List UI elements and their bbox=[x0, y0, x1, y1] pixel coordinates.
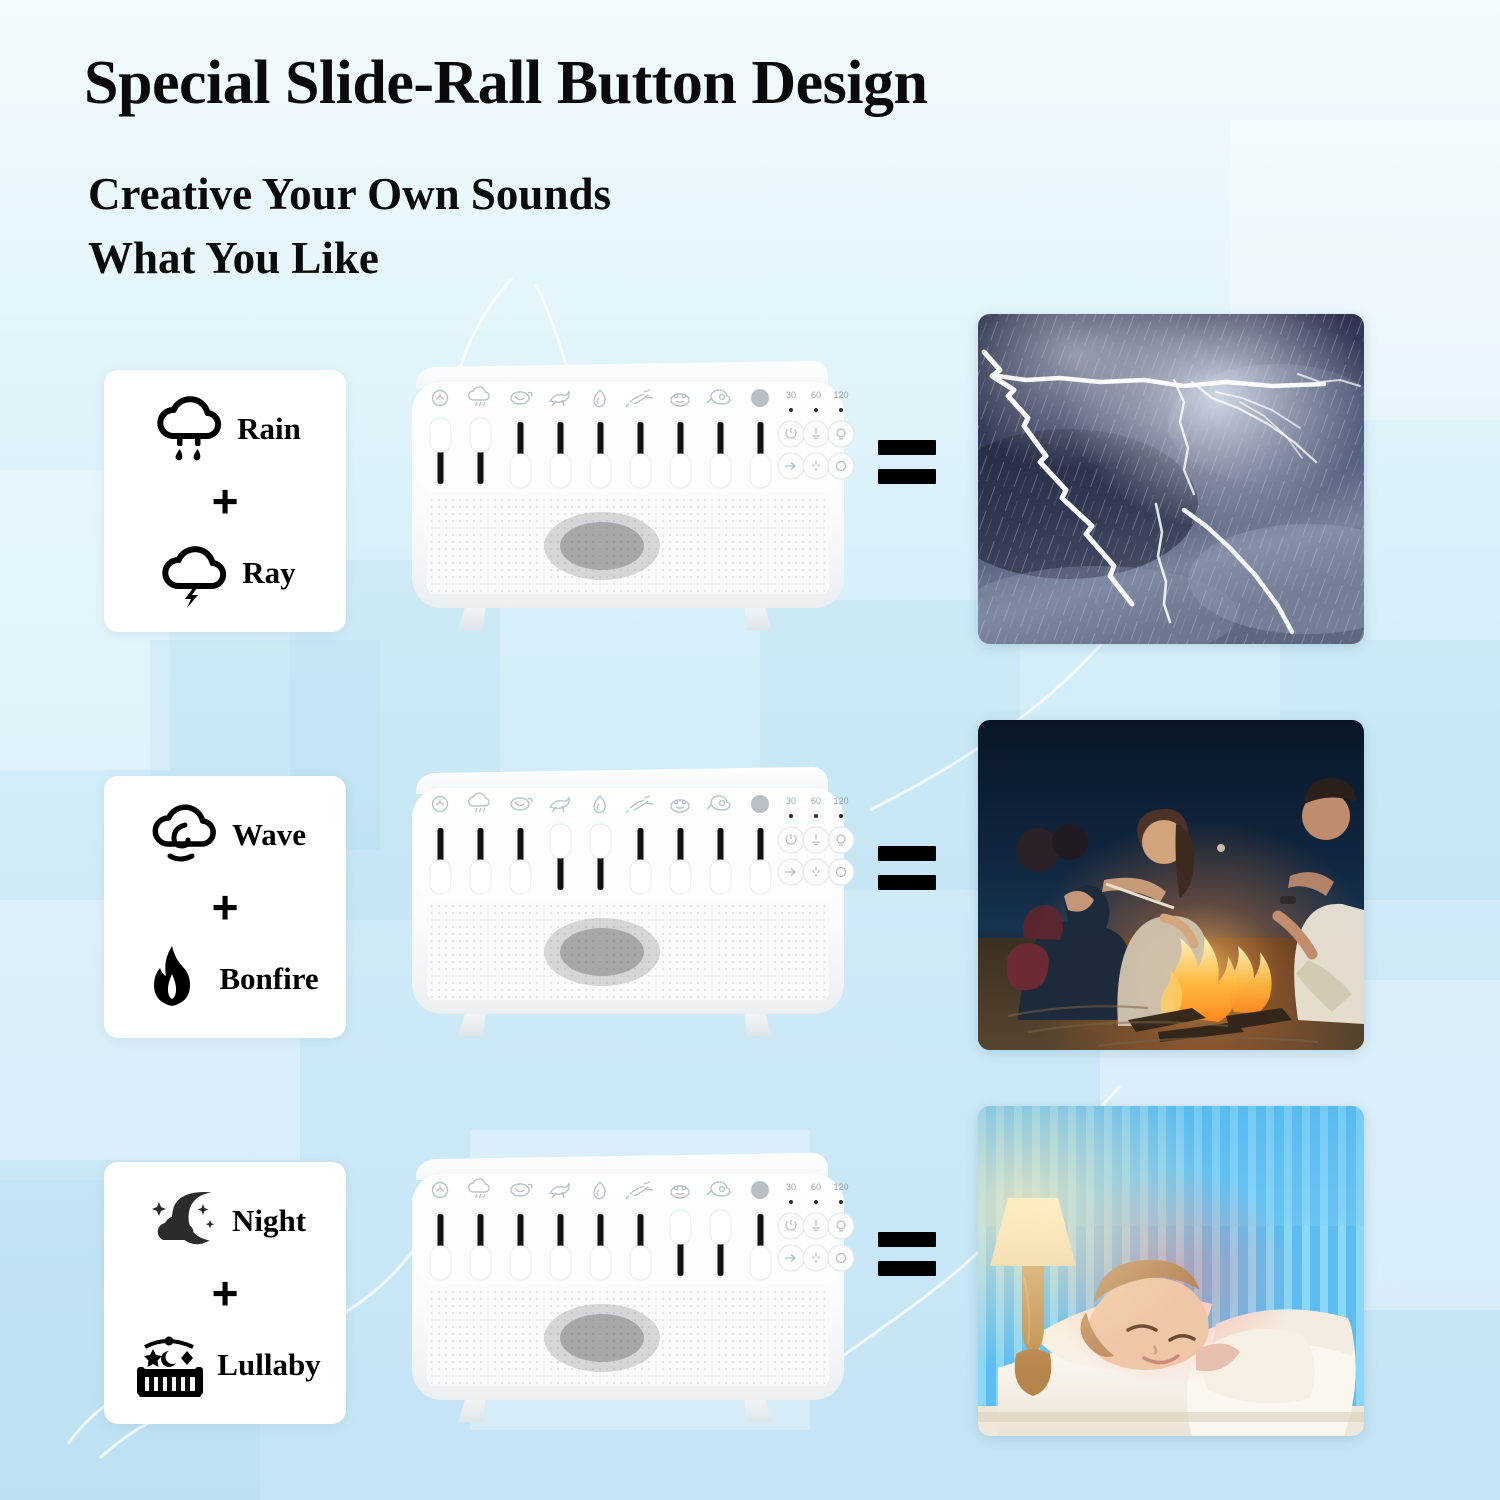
combo-label-second: Lullaby bbox=[217, 1347, 320, 1383]
combo-row: Rain + Ray bbox=[0, 300, 1500, 690]
lamp-icon[interactable] bbox=[828, 1213, 854, 1239]
subtitle-line-1: Creative Your Own Sounds bbox=[88, 168, 611, 220]
equals-sign bbox=[878, 1232, 936, 1280]
plus-sign: + bbox=[212, 473, 239, 529]
sleeping-child-photo bbox=[978, 1106, 1364, 1436]
equals-bar-bottom bbox=[878, 875, 936, 890]
combo-line-second: Bonfire bbox=[104, 935, 346, 1023]
wave-cloud-icon bbox=[144, 796, 226, 874]
lamp-icon[interactable] bbox=[828, 827, 854, 853]
sound-machine-device[interactable]: 30 60 120 bbox=[402, 1150, 854, 1450]
thunder-cloud-icon bbox=[154, 534, 236, 612]
record-icon[interactable] bbox=[828, 859, 854, 885]
equals-bar-bottom bbox=[878, 469, 936, 484]
power-icon[interactable] bbox=[778, 827, 804, 853]
infographic-page: Special Slide-Rall Button Design Creativ… bbox=[0, 0, 1500, 1500]
page-title: Special Slide-Rall Button Design bbox=[84, 48, 928, 119]
crib-mobile-icon bbox=[129, 1326, 211, 1404]
plus-sign: + bbox=[212, 879, 239, 935]
equals-sign bbox=[878, 846, 936, 894]
record-icon[interactable] bbox=[828, 1245, 854, 1271]
combo-line-first: Rain bbox=[104, 385, 346, 473]
combo-line-first: Night bbox=[104, 1177, 346, 1265]
bulb-icon[interactable] bbox=[803, 859, 829, 885]
equals-bar-top bbox=[878, 440, 936, 455]
combo-card: Night + bbox=[104, 1162, 346, 1424]
equals-bar-top bbox=[878, 1232, 936, 1247]
combo-row: Wave + Bonfire bbox=[0, 706, 1500, 1096]
timer-label-30: 30 bbox=[786, 796, 796, 806]
device-illustration: 30 60 120 bbox=[402, 358, 854, 658]
timer-label-120: 120 bbox=[833, 1182, 848, 1192]
device-illustration: 30 60 120 bbox=[402, 764, 854, 1064]
power-icon[interactable] bbox=[778, 421, 804, 447]
sound-machine-device[interactable]: 30 60 120 bbox=[402, 764, 854, 1064]
plus-sign: + bbox=[212, 1265, 239, 1321]
slider-bank[interactable] bbox=[430, 824, 771, 894]
volume-icon[interactable] bbox=[803, 421, 829, 447]
subtitle-line-2: What You Like bbox=[88, 232, 379, 284]
equals-bar-bottom bbox=[878, 1261, 936, 1276]
device-illustration: 30 60 120 bbox=[402, 1150, 854, 1450]
slider-bank[interactable] bbox=[430, 418, 771, 488]
combo-card: Wave + Bonfire bbox=[104, 776, 346, 1038]
combo-line-second: Lullaby bbox=[104, 1321, 346, 1409]
timer-label-30: 30 bbox=[786, 390, 796, 400]
timer-label-120: 120 bbox=[833, 796, 848, 806]
beach-bonfire-photo bbox=[978, 720, 1364, 1050]
equals-bar-top bbox=[878, 846, 936, 861]
sound-machine-device[interactable]: 30 60 120 bbox=[402, 358, 854, 658]
combo-row: Night + bbox=[0, 1092, 1500, 1482]
record-icon[interactable] bbox=[828, 453, 854, 479]
moon-cloud-stars-icon bbox=[144, 1182, 226, 1260]
timer-label-60: 60 bbox=[811, 390, 821, 400]
timer-label-60: 60 bbox=[811, 1182, 821, 1192]
combo-label-second: Ray bbox=[242, 555, 295, 591]
bulb-icon[interactable] bbox=[803, 453, 829, 479]
rain-cloud-icon bbox=[149, 390, 231, 468]
timer-label-30: 30 bbox=[786, 1182, 796, 1192]
combo-line-first: Wave bbox=[104, 791, 346, 879]
combo-label-second: Bonfire bbox=[219, 961, 318, 997]
bulb-icon[interactable] bbox=[803, 1245, 829, 1271]
combo-label-first: Rain bbox=[237, 411, 301, 447]
volume-icon[interactable] bbox=[803, 1213, 829, 1239]
timer-label-120: 120 bbox=[833, 390, 848, 400]
combo-label-first: Night bbox=[232, 1203, 306, 1239]
combo-label-first: Wave bbox=[232, 817, 306, 853]
slider-bank[interactable] bbox=[430, 1210, 771, 1280]
equals-sign bbox=[878, 440, 936, 488]
timer-label-60: 60 bbox=[811, 796, 821, 806]
power-icon[interactable] bbox=[778, 1213, 804, 1239]
lightning-storm-photo bbox=[978, 314, 1364, 644]
combo-line-second: Ray bbox=[104, 529, 346, 617]
lamp-icon[interactable] bbox=[828, 421, 854, 447]
flame-icon bbox=[131, 940, 213, 1018]
combo-card: Rain + Ray bbox=[104, 370, 346, 632]
volume-icon[interactable] bbox=[803, 827, 829, 853]
